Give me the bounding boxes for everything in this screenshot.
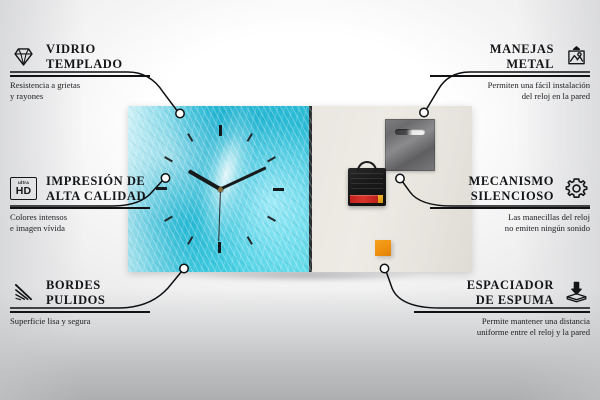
callout-head: ESPACIADOR DE ESPUMA — [414, 278, 590, 307]
callout-desc-line2: del reloj en la pared — [522, 91, 590, 101]
callout-espaciador-espuma: ESPACIADOR DE ESPUMA Permite mantener un… — [414, 278, 590, 337]
callout-rule — [414, 311, 590, 313]
mechanism-loop — [357, 161, 377, 171]
polished-edges-icon — [10, 279, 37, 306]
callout-title: VIDRIO TEMPLADO — [46, 42, 123, 71]
clock-face — [128, 106, 312, 272]
callout-desc-line1: Colores intensos — [10, 212, 67, 222]
callout-head: MECANISMO SILENCIOSO — [430, 174, 590, 203]
clock-tick — [156, 188, 220, 190]
callout-mecanismo-silencioso: MECANISMO SILENCIOSO Las manecillas del … — [430, 174, 590, 233]
clock-tick — [164, 188, 220, 222]
callout-title: ESPACIADOR DE ESPUMA — [467, 278, 554, 307]
callout-title-line1: VIDRIO — [46, 42, 96, 56]
callout-title-line1: MECANISMO — [468, 174, 554, 188]
infographic-canvas: VIDRIO TEMPLADO Resistencia a grietas y … — [0, 0, 600, 400]
callout-desc-line1: Permiten una fácil instalación — [488, 80, 590, 90]
callout-title-line2: ALTA CALIDAD — [46, 189, 146, 203]
foam-spacer — [375, 240, 391, 256]
ultra-hd-icon: ultra HD — [10, 177, 37, 200]
callout-desc-line2: e imagen vívida — [10, 223, 65, 233]
foam-spacer-icon — [563, 279, 590, 306]
callout-rule — [10, 311, 150, 313]
callout-desc-line1: Las manecillas del reloj — [508, 212, 590, 222]
callout-head: MANEJAS METAL — [430, 42, 590, 71]
callout-title-line1: ESPACIADOR — [467, 278, 554, 292]
callout-title: BORDES PULIDOS — [46, 278, 105, 307]
callout-title-line1: MANEJAS — [490, 42, 554, 56]
callout-manejas-metal: MANEJAS METAL Permiten una fácil instala… — [430, 42, 590, 101]
clock-tick — [219, 125, 221, 189]
callout-title: MANEJAS METAL — [490, 42, 554, 71]
callout-title-line2: TEMPLADO — [46, 57, 123, 71]
callout-description: Las manecillas del reloj no emiten ningú… — [430, 212, 590, 233]
callout-desc-line1: Superficie lisa y segura — [10, 316, 90, 326]
callout-description: Colores intensos e imagen vívida — [10, 212, 150, 233]
callout-impresion-alta-calidad: ultra HD IMPRESIÓN DE ALTA CALIDAD Color… — [10, 174, 150, 233]
callout-desc-line2: y rayones — [10, 91, 43, 101]
battery — [350, 195, 380, 203]
picture-hanger-icon — [563, 43, 590, 70]
hanger-slot — [395, 129, 425, 135]
callout-head: BORDES PULIDOS — [10, 278, 150, 307]
callout-title-line1: BORDES — [46, 278, 101, 292]
clock-mechanism — [348, 168, 386, 206]
callout-description: Resistencia a grietas y rayones — [10, 80, 150, 101]
callout-description: Permite mantener una distancia uniforme … — [414, 316, 590, 337]
callout-rule — [10, 207, 150, 209]
product-image — [128, 106, 472, 272]
battery-cap — [378, 195, 383, 203]
metal-hanger-plate — [385, 119, 435, 171]
callout-rule — [10, 75, 150, 77]
callout-bordes-pulidos: BORDES PULIDOS Superficie lisa y segura — [10, 278, 150, 327]
callout-title-line1: IMPRESIÓN DE — [46, 174, 145, 188]
callout-description: Superficie lisa y segura — [10, 316, 150, 327]
diamond-icon — [10, 43, 37, 70]
callout-desc-line1: Permite mantener una distancia — [482, 316, 590, 326]
callout-head: VIDRIO TEMPLADO — [10, 42, 150, 71]
callout-desc-line1: Resistencia a grietas — [10, 80, 80, 90]
clock-front-panel — [128, 106, 312, 272]
clock-hub — [218, 187, 223, 192]
callout-rule — [430, 75, 590, 77]
gear-icon — [563, 175, 590, 202]
callout-vidrio-templado: VIDRIO TEMPLADO Resistencia a grietas y … — [10, 42, 150, 101]
callout-title: IMPRESIÓN DE ALTA CALIDAD — [46, 174, 146, 203]
callout-title-line2: DE ESPUMA — [476, 293, 554, 307]
callout-title-line2: PULIDOS — [46, 293, 105, 307]
mechanism-grid — [351, 173, 383, 190]
callout-rule — [430, 207, 590, 209]
ultra-hd-icon-main-text: HD — [16, 186, 32, 197]
callout-title-line2: METAL — [506, 57, 554, 71]
clock-tick — [220, 188, 284, 190]
callout-title: MECANISMO SILENCIOSO — [468, 174, 554, 203]
callout-description: Permiten una fácil instalación del reloj… — [430, 80, 590, 101]
callout-title-line2: SILENCIOSO — [471, 189, 554, 203]
callout-head: ultra HD IMPRESIÓN DE ALTA CALIDAD — [10, 174, 150, 203]
callout-desc-line2: uniforme entre el reloj y la pared — [477, 327, 590, 337]
callout-desc-line2: no emiten ningún sonido — [505, 223, 590, 233]
